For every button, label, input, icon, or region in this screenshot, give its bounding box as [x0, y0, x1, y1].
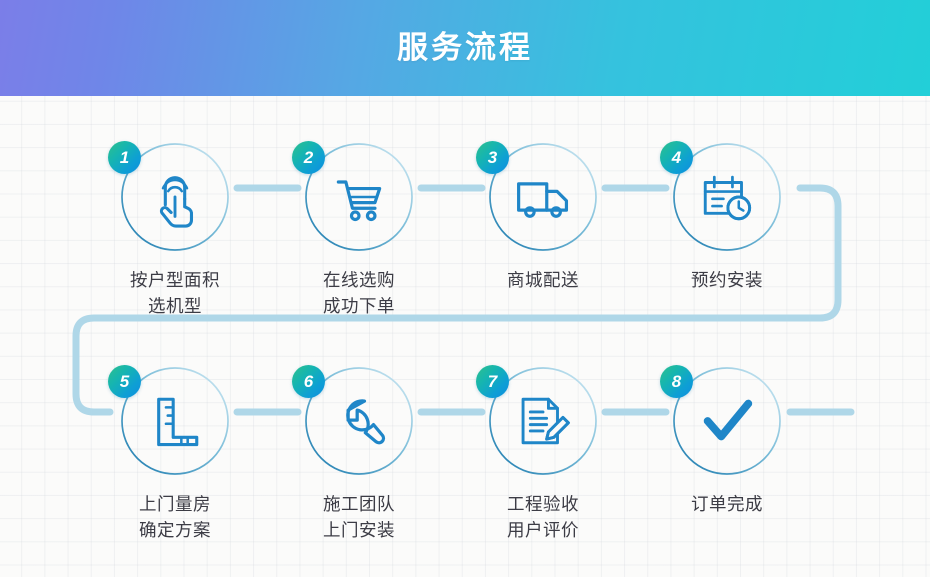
step-6-label: 施工团队 上门安装	[269, 491, 449, 543]
step-4-label: 预约安装	[637, 267, 817, 293]
step-3-circle-wrap: 3	[453, 130, 633, 265]
step-5[interactable]: 5 上门量房 确定方案	[85, 354, 265, 543]
step-7[interactable]: 7 工程验收 用户评价	[453, 354, 633, 543]
service-flow-page: 服务流程	[0, 0, 930, 577]
step-7-circle-wrap: 7	[453, 354, 633, 489]
page-title: 服务流程	[397, 32, 533, 63]
step-1-circle-wrap: 1	[85, 130, 265, 265]
step-3-label: 商城配送	[453, 267, 633, 293]
step-1-label: 按户型面积 选机型	[85, 267, 265, 319]
step-4[interactable]: 4 预约安装	[637, 130, 817, 293]
step-5-label: 上门量房 确定方案	[85, 491, 265, 543]
flow-diagram: 1 按户型面积 选机型	[0, 96, 930, 577]
page-header: 服务流程	[0, 0, 930, 96]
step-6-number: 6	[292, 365, 325, 398]
step-2-number: 2	[292, 141, 325, 174]
step-4-number: 4	[660, 141, 693, 174]
step-4-circle-wrap: 4	[637, 130, 817, 265]
step-7-number: 7	[476, 365, 509, 398]
step-8-number: 8	[660, 365, 693, 398]
step-1-number: 1	[108, 141, 141, 174]
step-7-label: 工程验收 用户评价	[453, 491, 633, 543]
step-8[interactable]: 8 订单完成	[637, 354, 817, 517]
step-3-number: 3	[476, 141, 509, 174]
step-2[interactable]: 2 在线选购 成功下单	[269, 130, 449, 319]
step-8-label: 订单完成	[637, 491, 817, 517]
step-6-circle-wrap: 6	[269, 354, 449, 489]
step-5-number: 5	[108, 365, 141, 398]
step-2-label: 在线选购 成功下单	[269, 267, 449, 319]
step-3[interactable]: 3 商城配送	[453, 130, 633, 293]
step-2-circle-wrap: 2	[269, 130, 449, 265]
step-1[interactable]: 1 按户型面积 选机型	[85, 130, 265, 319]
step-6[interactable]: 6 施工团队 上门安装	[269, 354, 449, 543]
step-8-circle-wrap: 8	[637, 354, 817, 489]
step-5-circle-wrap: 5	[85, 354, 265, 489]
